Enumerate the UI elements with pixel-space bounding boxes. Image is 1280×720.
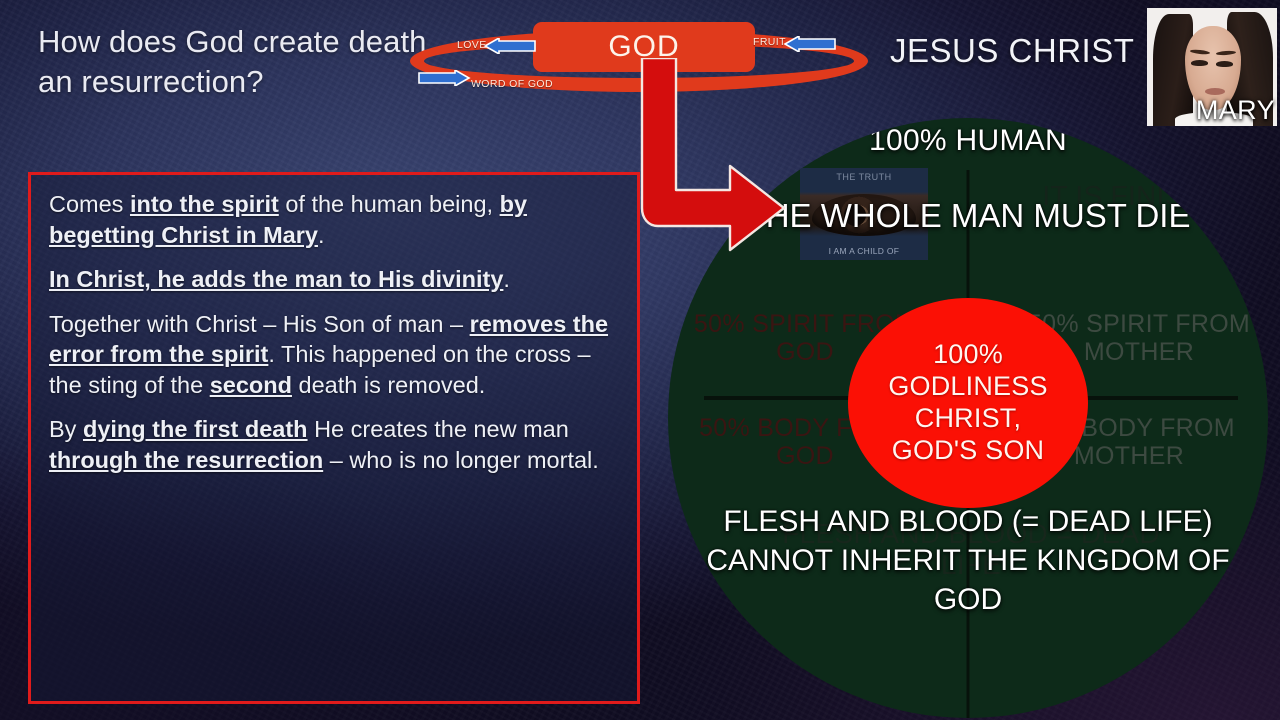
love-arrow-icon	[483, 38, 537, 54]
p4-part-e: – who is no longer mortal.	[323, 447, 599, 473]
redball-line-4: GOD'S SON	[892, 435, 1044, 467]
mary-label: MARY	[1196, 95, 1275, 126]
p3-part-d: second	[210, 372, 292, 398]
word-of-god-arrow-icon	[417, 70, 471, 86]
slide-canvas: How does God create death an resurrectio…	[0, 0, 1280, 720]
flesh-and-blood-label: FLESH AND BLOOD (= DEAD LIFE) CANNOT INH…	[690, 502, 1246, 619]
p3-part-e: death is removed.	[292, 372, 485, 398]
godliness-red-ellipse: 100% GODLINESS CHRIST, GOD'S SON	[848, 298, 1088, 508]
p2-part-a: In Christ, he adds the man to His divini…	[49, 266, 503, 292]
p1-part-b: into the spirit	[130, 191, 279, 217]
redball-line-1: 100%	[933, 339, 1003, 371]
p4-part-c: He creates the new man	[308, 416, 569, 442]
whole-man-must-die-label: THE WHOLE MAN MUST DIE	[718, 196, 1218, 236]
p1-part-c: of the human being,	[279, 191, 500, 217]
p4-part-d: through the resurrection	[49, 447, 323, 473]
textbox-paragraph-1: Comes into the spirit of the human being…	[49, 189, 619, 250]
textbox-paragraph-4: By dying the first death He creates the …	[49, 414, 619, 475]
jesus-christ-label: JESUS CHRIST	[890, 32, 1134, 70]
inset-bottom-text: I AM A CHILD OF	[800, 246, 928, 256]
elbow-arrow-icon	[612, 58, 792, 278]
textbox-paragraph-2: In Christ, he adds the man to His divini…	[49, 264, 619, 295]
mary-photo: MARY	[1147, 8, 1277, 126]
ring-label-fruit: FRUIT	[753, 36, 786, 48]
ring-label-love: LOVE	[457, 39, 487, 51]
p3-part-a: Together with Christ – His Son of man –	[49, 311, 470, 337]
page-title: How does God create death an resurrectio…	[38, 22, 438, 101]
explanation-textbox: Comes into the spirit of the human being…	[28, 172, 640, 704]
p4-part-a: By	[49, 416, 83, 442]
redball-line-2: GODLINESS	[888, 371, 1047, 403]
fruit-arrow-icon	[783, 36, 837, 52]
textbox-paragraph-3: Together with Christ – His Son of man – …	[49, 309, 619, 401]
p2-part-b: .	[503, 266, 510, 292]
lips	[1205, 88, 1225, 95]
p1-part-e: .	[318, 222, 325, 248]
ring-label-word-of-god: WORD OF GOD	[471, 78, 553, 90]
eye-left	[1191, 60, 1208, 66]
inset-top-text: THE TRUTH	[800, 172, 928, 182]
redball-line-3: CHRIST,	[915, 403, 1021, 435]
p1-part-a: Comes	[49, 191, 130, 217]
p4-part-b: dying the first death	[83, 416, 308, 442]
eye-right	[1216, 61, 1233, 67]
